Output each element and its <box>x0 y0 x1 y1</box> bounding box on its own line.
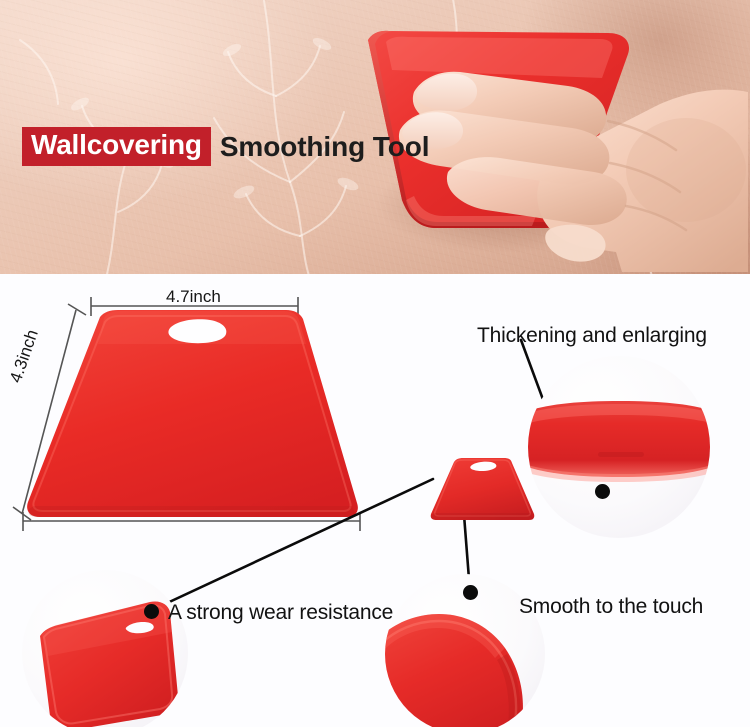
callout-label-smooth-touch: Smooth to the touch <box>519 595 703 619</box>
main-product-illustration <box>0 274 400 544</box>
callout-dot-thickening <box>595 484 610 499</box>
hero-title-rest: Smoothing Tool <box>211 133 430 161</box>
width-dimension-label: 4.7inch <box>166 287 221 307</box>
callout-image-thickening <box>528 356 710 538</box>
hero-title-highlight: Wallcovering <box>22 127 211 166</box>
callout-dot-smooth-touch <box>463 585 478 600</box>
center-scraper-hub <box>418 450 548 550</box>
callout-label-wear-resistance: A strong wear resistance <box>168 601 393 625</box>
callout-dot-wear-resistance <box>144 604 159 619</box>
callout-image-wear-resistance <box>22 570 188 727</box>
callout-label-thickening: Thickening and enlarging <box>477 324 707 348</box>
hero-title: Wallcovering Smoothing Tool <box>22 127 429 166</box>
product-features-section: 4.7inch 4.3inch <box>0 274 750 727</box>
hero-banner: Wallcovering Smoothing Tool <box>0 0 750 274</box>
product-marketing-image: Wallcovering Smoothing Tool <box>0 0 750 727</box>
